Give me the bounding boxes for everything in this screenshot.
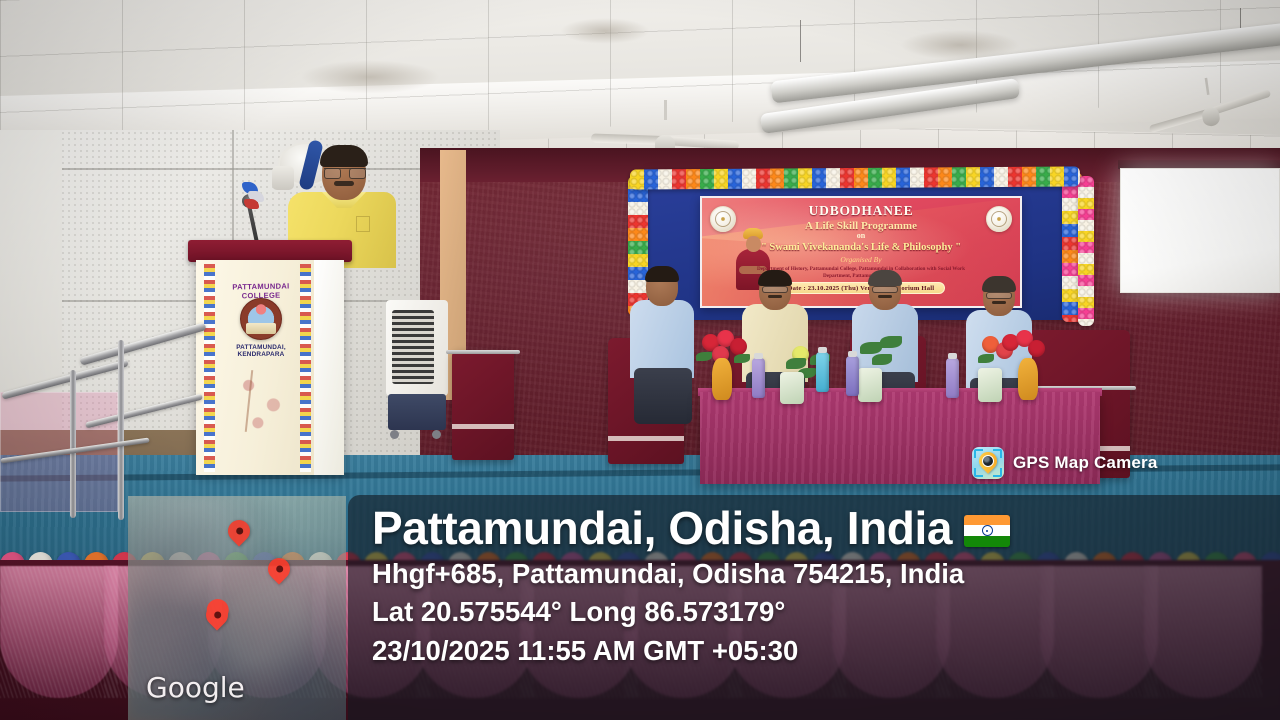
- tulle-drape: [0, 566, 118, 698]
- cooler-grill: [392, 310, 434, 384]
- person-glasses: [872, 286, 898, 293]
- person-glasses: [986, 292, 1012, 299]
- podium-floral-motif: [230, 362, 292, 440]
- podium: PATTAMUNDAI COLLEGE PATTAMUNDAI, KENDRAP…: [196, 240, 344, 475]
- projector-screen: [1120, 168, 1280, 293]
- flower-garland-top: [630, 166, 1080, 189]
- flower-leaf: [860, 342, 882, 354]
- seated-person: [630, 268, 694, 458]
- flag-ashoka-chakra: [982, 525, 993, 536]
- person-torso: [630, 300, 694, 378]
- portrait-face: [746, 236, 761, 252]
- geotag-address: Hhgf+685, Pattamundai, Odisha 754215, In…: [372, 555, 1270, 594]
- college-seal-icon: [710, 206, 736, 232]
- flower-petal: [730, 338, 747, 355]
- flag-stripe-saffron: [964, 515, 1010, 526]
- light-wire: [800, 20, 801, 62]
- person-hair: [758, 270, 792, 286]
- flower-vase: [858, 368, 882, 402]
- flower-leaf: [978, 354, 994, 363]
- logo-camera-lens-icon: [982, 455, 994, 467]
- flower-leaf: [696, 352, 712, 361]
- geotag-coordinates: Lat 20.575544° Long 86.573179°: [372, 593, 1270, 632]
- flower-vase: [780, 372, 804, 404]
- vase-body: [780, 372, 804, 404]
- banner-on-word: on: [857, 232, 865, 240]
- flower-vase: [712, 358, 732, 400]
- fan-rod: [664, 100, 667, 120]
- person-moustache: [768, 295, 782, 298]
- person-hair: [868, 270, 902, 286]
- flower-vase: [1018, 358, 1038, 400]
- speaker-glasses: [324, 168, 366, 177]
- vase-body: [1018, 358, 1038, 400]
- gps-map-camera-watermark: GPS Map Camera: [968, 444, 1172, 482]
- garland-texture: [630, 166, 1080, 189]
- person-moustache: [878, 295, 892, 298]
- banner-topic: " Swami Vivekananda's Life & Philosophy …: [761, 242, 961, 253]
- vase-body: [712, 358, 732, 400]
- person-moustache: [992, 301, 1006, 304]
- podium-location: PATTAMUNDAI, KENDRAPARA: [214, 344, 308, 358]
- cooler-base: [388, 394, 446, 430]
- ceiling-stain: [300, 60, 440, 94]
- person-hair: [982, 276, 1016, 292]
- flower-leaf: [880, 336, 902, 348]
- india-flag-icon: [964, 515, 1010, 547]
- fan-hub: [1201, 107, 1220, 128]
- podium-decor-flag: [242, 182, 268, 208]
- water-bottle: [752, 358, 765, 398]
- flower-leaf: [734, 354, 750, 363]
- podium-side-panel: [314, 260, 344, 475]
- podium-top-drape: [188, 240, 352, 262]
- flower-leaf: [872, 354, 892, 365]
- speaker-hair: [320, 145, 368, 167]
- person-legs: [634, 368, 692, 424]
- chair-stripe: [452, 424, 514, 429]
- flower-petal: [1028, 340, 1045, 357]
- banner-title: UDBODHANEE: [809, 203, 914, 219]
- google-attribution: Google: [146, 671, 245, 704]
- gps-map-camera-photo: UDBODHANEE A Life Skill Programme on " S…: [0, 0, 1280, 720]
- draped-chair: [452, 350, 514, 460]
- geotag-info-panel: Pattamundai, Odisha, India Hhgf+685, Pat…: [348, 495, 1280, 720]
- vase-body: [978, 368, 1002, 402]
- bottle-cap: [754, 353, 763, 359]
- water-bottle: [946, 358, 959, 398]
- flower-garland-right-inner: [1078, 176, 1094, 326]
- banner-organised-by: Organised By: [840, 255, 881, 264]
- flower-vase: [978, 368, 1002, 402]
- map-thumbnail[interactable]: Google: [128, 496, 346, 720]
- water-bottle: [846, 356, 859, 396]
- decor-flag-red: [244, 199, 259, 209]
- garland-texture: [1078, 176, 1094, 326]
- air-cooler: [386, 300, 448, 442]
- bottle-cap: [948, 353, 957, 359]
- bottle-cap: [818, 347, 827, 353]
- college-seal-icon: [986, 206, 1012, 232]
- railing-post: [118, 340, 124, 520]
- geotag-datetime: 23/10/2025 11:55 AM GMT +05:30: [372, 632, 1270, 671]
- logo-corner-bracket: [993, 468, 1002, 477]
- ceiling-stain: [560, 18, 650, 44]
- geotag-city-row: Pattamundai, Odisha, India: [372, 503, 1270, 555]
- geotag-city-text: Pattamundai, Odisha, India: [372, 503, 952, 555]
- chair-armrest: [446, 350, 520, 354]
- person-glasses: [762, 286, 788, 293]
- watermark-label: GPS Map Camera: [1013, 453, 1158, 473]
- college-crest-icon: [240, 298, 282, 340]
- bottle-cap: [848, 351, 857, 357]
- gps-map-camera-logo-icon: [972, 447, 1004, 479]
- speaker-shirt-pocket: [356, 216, 370, 232]
- cooler-wheel: [432, 430, 441, 439]
- logo-corner-bracket: [974, 468, 983, 477]
- person-hair: [645, 266, 679, 282]
- railing-post: [70, 370, 76, 518]
- cooler-wheel: [390, 430, 399, 439]
- water-bottle: [816, 352, 829, 392]
- vase-body: [858, 368, 882, 402]
- flag-stripe-green: [964, 536, 1010, 547]
- geotag-info-content: Pattamundai, Odisha, India Hhgf+685, Pat…: [372, 503, 1270, 670]
- speaker-moustache: [334, 181, 354, 186]
